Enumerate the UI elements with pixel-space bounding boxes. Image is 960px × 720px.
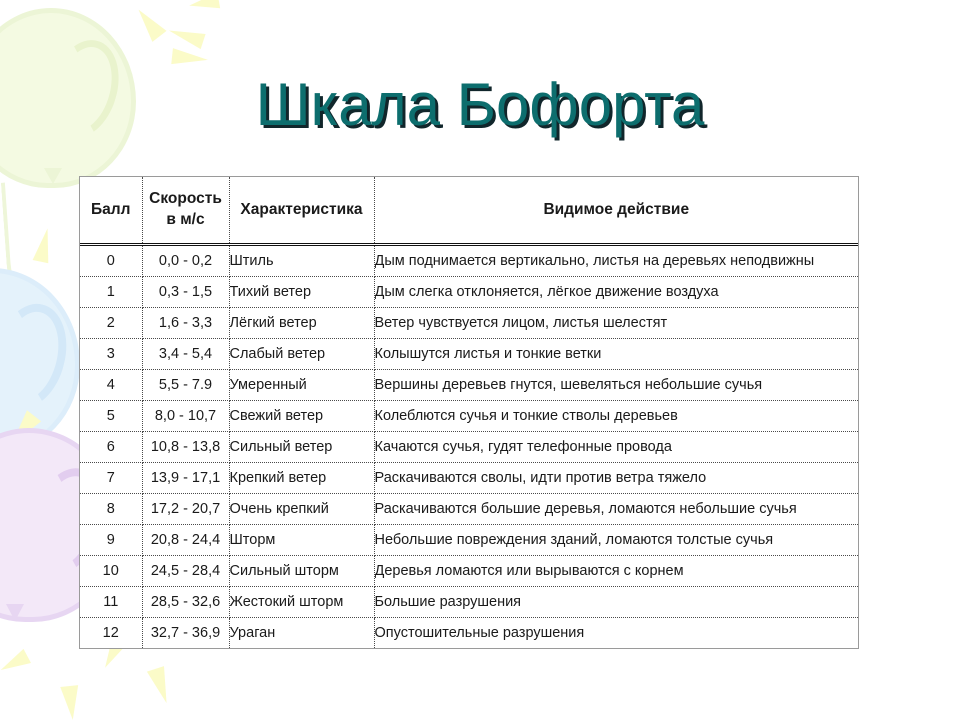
cell-characteristic: Лёгкий ветер [229,308,374,339]
column-header-speed-line2: в м/с [147,210,225,231]
ray-shape-icon [5,410,41,449]
table-row: 920,8 - 24,4ШтормНебольшие повреждения з… [80,525,858,556]
table-body: 00,0 - 0,2ШтильДым поднимается вертикаль… [80,245,858,649]
cell-speed: 28,5 - 32,6 [142,587,229,618]
beaufort-scale-table: Балл Скорость в м/с Характеристика Видим… [79,176,859,649]
cell-effect: Качаются сучья, гудят телефонные провода [374,432,858,463]
table-row: 610,8 - 13,8Сильный ветерКачаются сучья,… [80,432,858,463]
cell-effect: Опустошительные разрушения [374,618,858,649]
cell-score: 10 [80,556,142,587]
table-row: 10,3 - 1,5Тихий ветерДым слегка отклоняе… [80,277,858,308]
cell-characteristic: Жестокий шторм [229,587,374,618]
table-row: 1128,5 - 32,6Жестокий штормБольшие разру… [80,587,858,618]
cell-characteristic: Ураган [229,618,374,649]
cell-speed: 0,0 - 0,2 [142,245,229,277]
cell-speed: 20,8 - 24,4 [142,525,229,556]
cell-score: 4 [80,370,142,401]
column-header-effect: Видимое действие [374,177,858,245]
balloon-purple-knot [6,604,24,621]
cell-speed: 3,4 - 5,4 [142,339,229,370]
cell-score: 9 [80,525,142,556]
column-header-speed-line1: Скорость [147,189,225,210]
ray-shape-icon [131,4,166,42]
cell-speed: 32,7 - 36,9 [142,618,229,649]
balloon-green-string [1,178,85,333]
ray-shape-icon [171,48,208,68]
cell-score: 2 [80,308,142,339]
cell-score: 7 [80,463,142,494]
table-row: 1024,5 - 28,4Сильный штормДеревья ломают… [80,556,858,587]
cell-speed: 1,6 - 3,3 [142,308,229,339]
cell-characteristic: Умеренный [229,370,374,401]
cell-characteristic: Штиль [229,245,374,277]
cell-score: 6 [80,432,142,463]
page-title: Шкала Бофорта [0,72,960,138]
table-row: 817,2 - 20,7Очень крепкийРаскачиваются б… [80,494,858,525]
table-row: 45,5 - 7.9УмеренныйВершины деревьев гнут… [80,370,858,401]
cell-speed: 10,8 - 13,8 [142,432,229,463]
column-header-score: Балл [80,177,142,245]
cell-speed: 0,3 - 1,5 [142,277,229,308]
cell-characteristic: Крепкий ветер [229,463,374,494]
cell-characteristic: Свежий ветер [229,401,374,432]
cell-score: 5 [80,401,142,432]
cell-characteristic: Сильный шторм [229,556,374,587]
cell-speed: 17,2 - 20,7 [142,494,229,525]
table-row: 33,4 - 5,4Слабый ветерКолышутся листья и… [80,339,858,370]
ray-shape-icon [60,685,81,720]
cell-effect: Колышутся листья и тонкие ветки [374,339,858,370]
cell-effect: Небольшие повреждения зданий, ломаются т… [374,525,858,556]
cell-score: 12 [80,618,142,649]
table-header-row: Балл Скорость в м/с Характеристика Видим… [80,177,858,245]
cell-score: 0 [80,245,142,277]
table-row: 713,9 - 17,1Крепкий ветерРаскачиваются с… [80,463,858,494]
cell-effect: Дым слегка отклоняется, лёгкое движение … [374,277,858,308]
cell-score: 8 [80,494,142,525]
table-row: 1232,7 - 36,9УраганОпустошительные разру… [80,618,858,649]
cell-score: 3 [80,339,142,370]
column-header-speed: Скорость в м/с [142,177,229,245]
table-row: 21,6 - 3,3Лёгкий ветерВетер чувствуется … [80,308,858,339]
ray-shape-icon [33,227,56,264]
cell-speed: 8,0 - 10,7 [142,401,229,432]
cell-effect: Колеблются сучья и тонкие стволы деревье… [374,401,858,432]
cell-effect: Ветер чувствуется лицом, листья шелестят [374,308,858,339]
cell-score: 11 [80,587,142,618]
cell-characteristic: Слабый ветер [229,339,374,370]
cell-characteristic: Шторм [229,525,374,556]
cell-effect: Вершины деревьев гнутся, шевеляться небо… [374,370,858,401]
balloon-blue [0,268,80,454]
balloon-green-knot [44,168,62,184]
cell-speed: 13,9 - 17,1 [142,463,229,494]
cell-effect: Дым поднимается вертикально, листья на д… [374,245,858,277]
cell-effect: Деревья ломаются или вырываются с корнем [374,556,858,587]
ray-shape-icon [166,23,205,49]
table-row: 58,0 - 10,7Свежий ветерКолеблются сучья … [80,401,858,432]
column-header-characteristic: Характеристика [229,177,374,245]
cell-characteristic: Сильный ветер [229,432,374,463]
ray-shape-icon [40,445,66,486]
balloon-gloss [0,296,77,416]
cell-score: 1 [80,277,142,308]
table-row: 00,0 - 0,2ШтильДым поднимается вертикаль… [80,245,858,277]
cell-characteristic: Очень крепкий [229,494,374,525]
balloon-purple-string [0,618,24,714]
ray-shape-icon [188,0,220,13]
ray-shape-icon [0,649,31,677]
cell-speed: 24,5 - 28,4 [142,556,229,587]
cell-characteristic: Тихий ветер [229,277,374,308]
cell-effect: Большие разрушения [374,587,858,618]
ray-shape-icon [147,666,175,706]
cell-effect: Раскачиваются сволы, идти против ветра т… [374,463,858,494]
slide-canvas: Шкала Бофорта Балл Скорость в м/с Характ… [0,0,960,720]
cell-speed: 5,5 - 7.9 [142,370,229,401]
cell-effect: Раскачиваются большие деревья, ломаются … [374,494,858,525]
